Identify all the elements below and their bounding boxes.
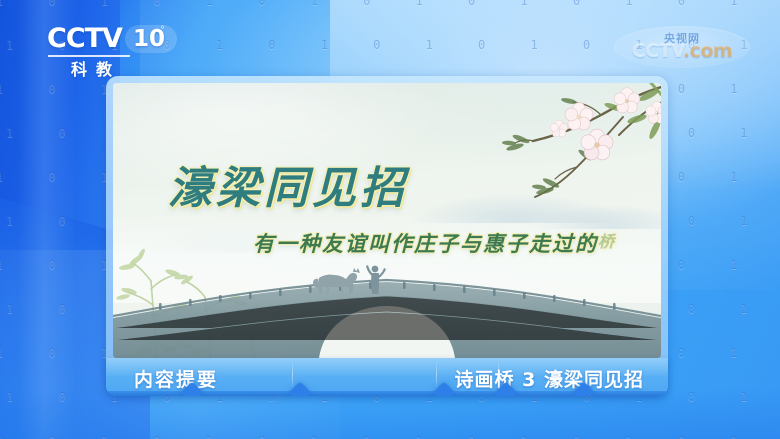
cctv-dot-com-watermark: 央视网 CCTV.com xyxy=(614,26,750,68)
bar-left-label: 内容提要 xyxy=(134,365,218,392)
watermark-com-text: .com xyxy=(683,40,732,62)
bar-separator-1 xyxy=(292,360,293,390)
program-subtitle: 有一种友谊叫作庄子与惠子走过的桥 xyxy=(253,228,616,258)
program-main-title: 濠梁同见招 xyxy=(168,152,408,216)
bar-separator-2 xyxy=(436,360,437,390)
logo-cctv-text: CCTV xyxy=(47,24,122,54)
subtitle-visible-text: 有一种友谊叫作庄子与惠子走过的 xyxy=(253,231,598,256)
cctv10-channel-logo: CCTV 10 ° 科教 xyxy=(47,24,167,74)
artwork-panel xyxy=(113,83,661,358)
watermark-main-text: CCTV.com xyxy=(614,40,750,62)
subtitle-fading-character: 桥 xyxy=(598,232,616,251)
peach-blossom-branch xyxy=(473,83,661,207)
stone-arch-bridge-scene xyxy=(113,248,661,358)
watermark-cctv-text: CCTV xyxy=(632,40,683,62)
tv-broadcast-screen: 1 0 1 0 1 0 1 0 1 0 1 0 1 0 1 0 1 0 1 0 … xyxy=(0,0,780,439)
bar-right-label: 诗画桥 3 濠梁同见招 xyxy=(455,365,644,392)
logo-degree-mark: ° xyxy=(160,25,165,36)
lower-third-bar: 内容提要 诗画桥 3 濠梁同见招 xyxy=(106,358,668,396)
